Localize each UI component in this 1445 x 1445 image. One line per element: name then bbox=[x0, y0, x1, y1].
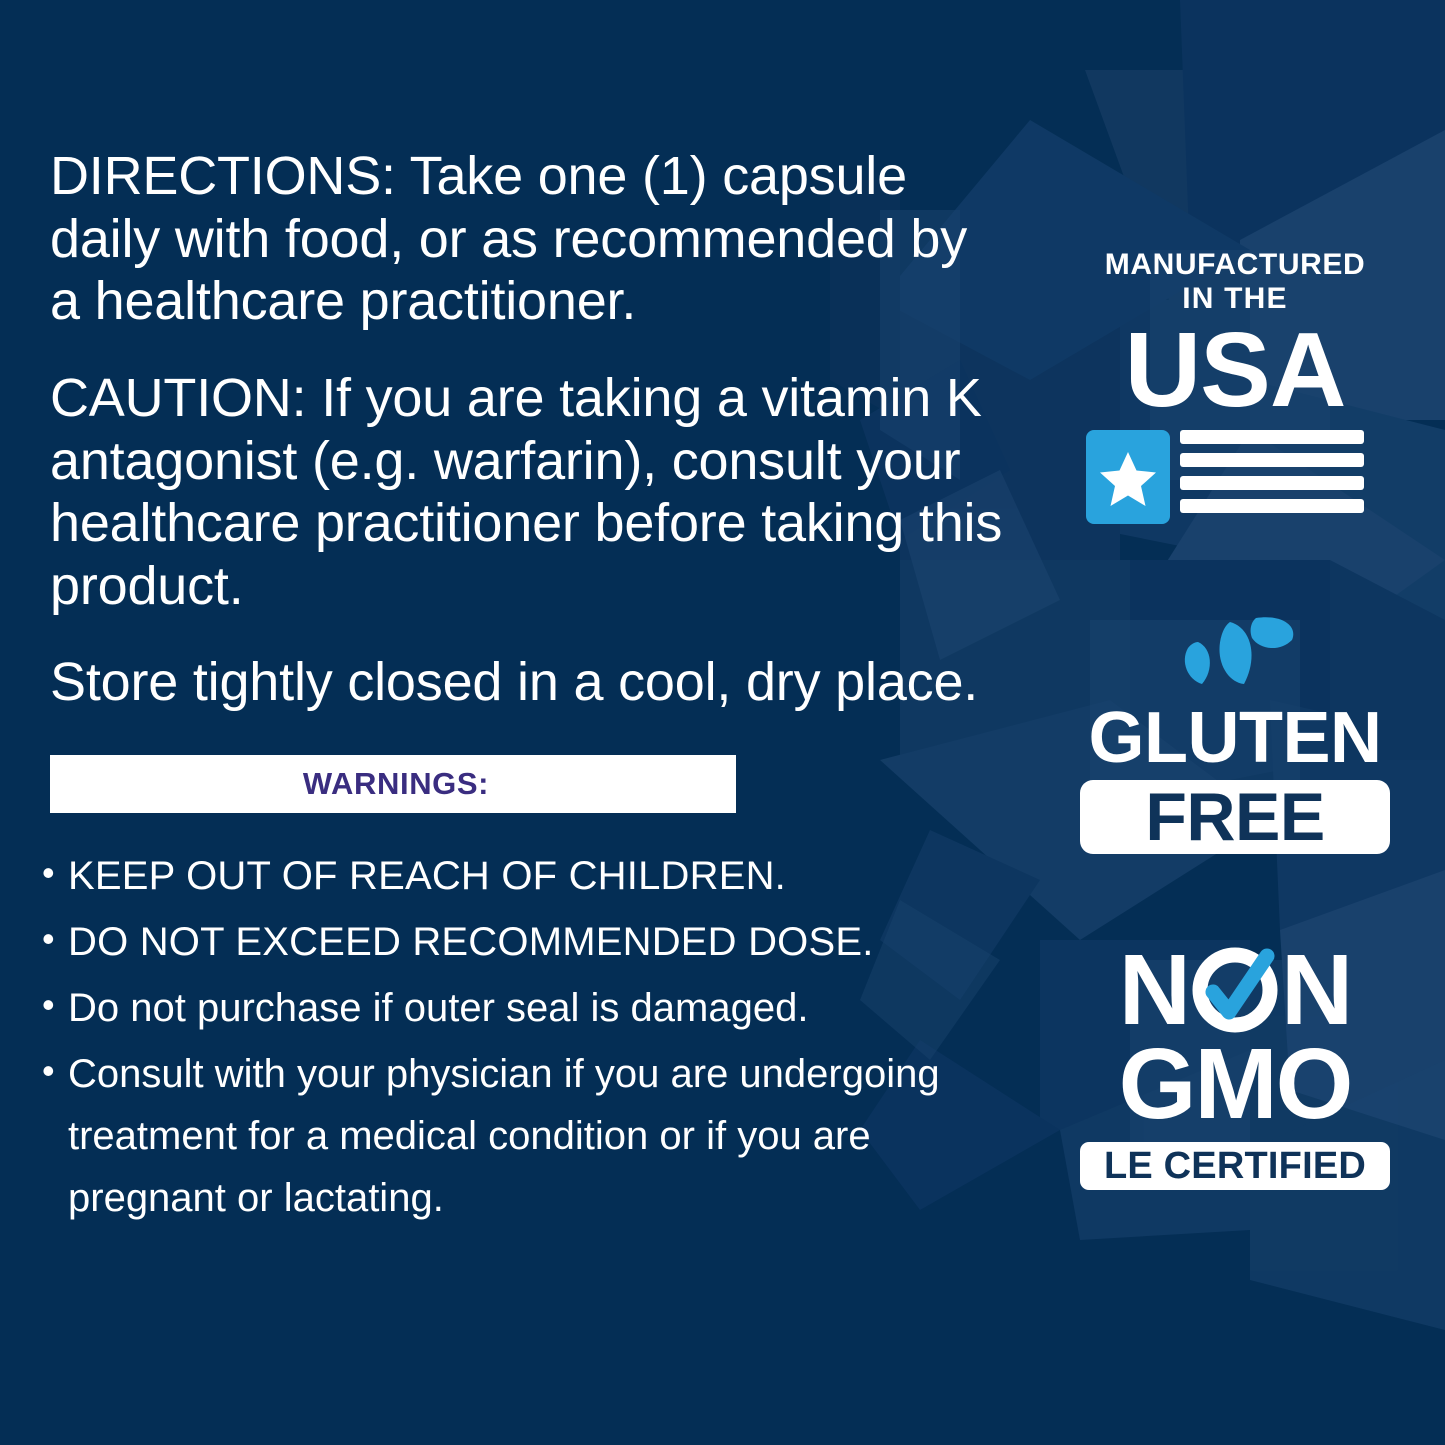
usa-flag-icon bbox=[1080, 424, 1370, 528]
warnings-title: WARNINGS: bbox=[297, 766, 489, 802]
warning-text: Do not purchase if outer seal is damaged… bbox=[68, 977, 1002, 1039]
supplement-label-panel: DIRECTIONS: Take one (1) capsule daily w… bbox=[0, 0, 1445, 1445]
warning-text: DO NOT EXCEED RECOMMENDED DOSE. bbox=[68, 911, 1002, 973]
list-item: • Do not purchase if outer seal is damag… bbox=[42, 977, 1002, 1039]
certified-label: LE CERTIFIED bbox=[1104, 1147, 1366, 1185]
badge-non-gmo: N N GMO LE CERTIFIED bbox=[1080, 942, 1390, 1190]
badge-gluten-free: GLUTEN FREE bbox=[1080, 614, 1390, 854]
warnings-list: • KEEP OUT OF REACH OF CHILDREN. • DO NO… bbox=[42, 845, 1002, 1233]
storage-paragraph: Store tightly closed in a cool, dry plac… bbox=[50, 651, 1050, 714]
badge-manufactured-in-usa: MANUFACTURED IN THE USA bbox=[1080, 250, 1390, 528]
non-first-letter: N bbox=[1119, 945, 1189, 1035]
usa-line1-label: MANUFACTURED bbox=[1080, 250, 1390, 280]
bullet-icon: • bbox=[42, 911, 68, 967]
instructions-text-column: DIRECTIONS: Take one (1) capsule daily w… bbox=[50, 145, 1050, 714]
certification-badge-column: MANUFACTURED IN THE USA bbox=[1080, 250, 1390, 1190]
non-last-letter: N bbox=[1281, 945, 1351, 1035]
non-row: N N bbox=[1080, 942, 1390, 1038]
certified-label-box: LE CERTIFIED bbox=[1080, 1142, 1390, 1190]
warning-text: Consult with your physician if you are u… bbox=[68, 1043, 1002, 1229]
bullet-icon: • bbox=[42, 1043, 68, 1099]
warnings-banner: WARNINGS: bbox=[50, 755, 736, 813]
warning-text: KEEP OUT OF REACH OF CHILDREN. bbox=[68, 845, 1002, 907]
caution-paragraph: CAUTION: If you are taking a vitamin K a… bbox=[50, 367, 1055, 618]
check-circle-icon bbox=[1187, 942, 1283, 1038]
free-label: FREE bbox=[1145, 783, 1324, 851]
gmo-label: GMO bbox=[1080, 1034, 1390, 1134]
list-item: • Consult with your physician if you are… bbox=[42, 1043, 1002, 1229]
directions-paragraph: DIRECTIONS: Take one (1) capsule daily w… bbox=[50, 145, 985, 333]
usa-word-label: USA bbox=[1080, 320, 1390, 421]
list-item: • DO NOT EXCEED RECOMMENDED DOSE. bbox=[42, 911, 1002, 973]
bullet-icon: • bbox=[42, 977, 68, 1033]
gluten-leaves-icon bbox=[1160, 614, 1310, 700]
list-item: • KEEP OUT OF REACH OF CHILDREN. bbox=[42, 845, 1002, 907]
bullet-icon: • bbox=[42, 845, 68, 901]
free-label-box: FREE bbox=[1080, 780, 1390, 854]
gluten-label: GLUTEN bbox=[1080, 702, 1390, 774]
